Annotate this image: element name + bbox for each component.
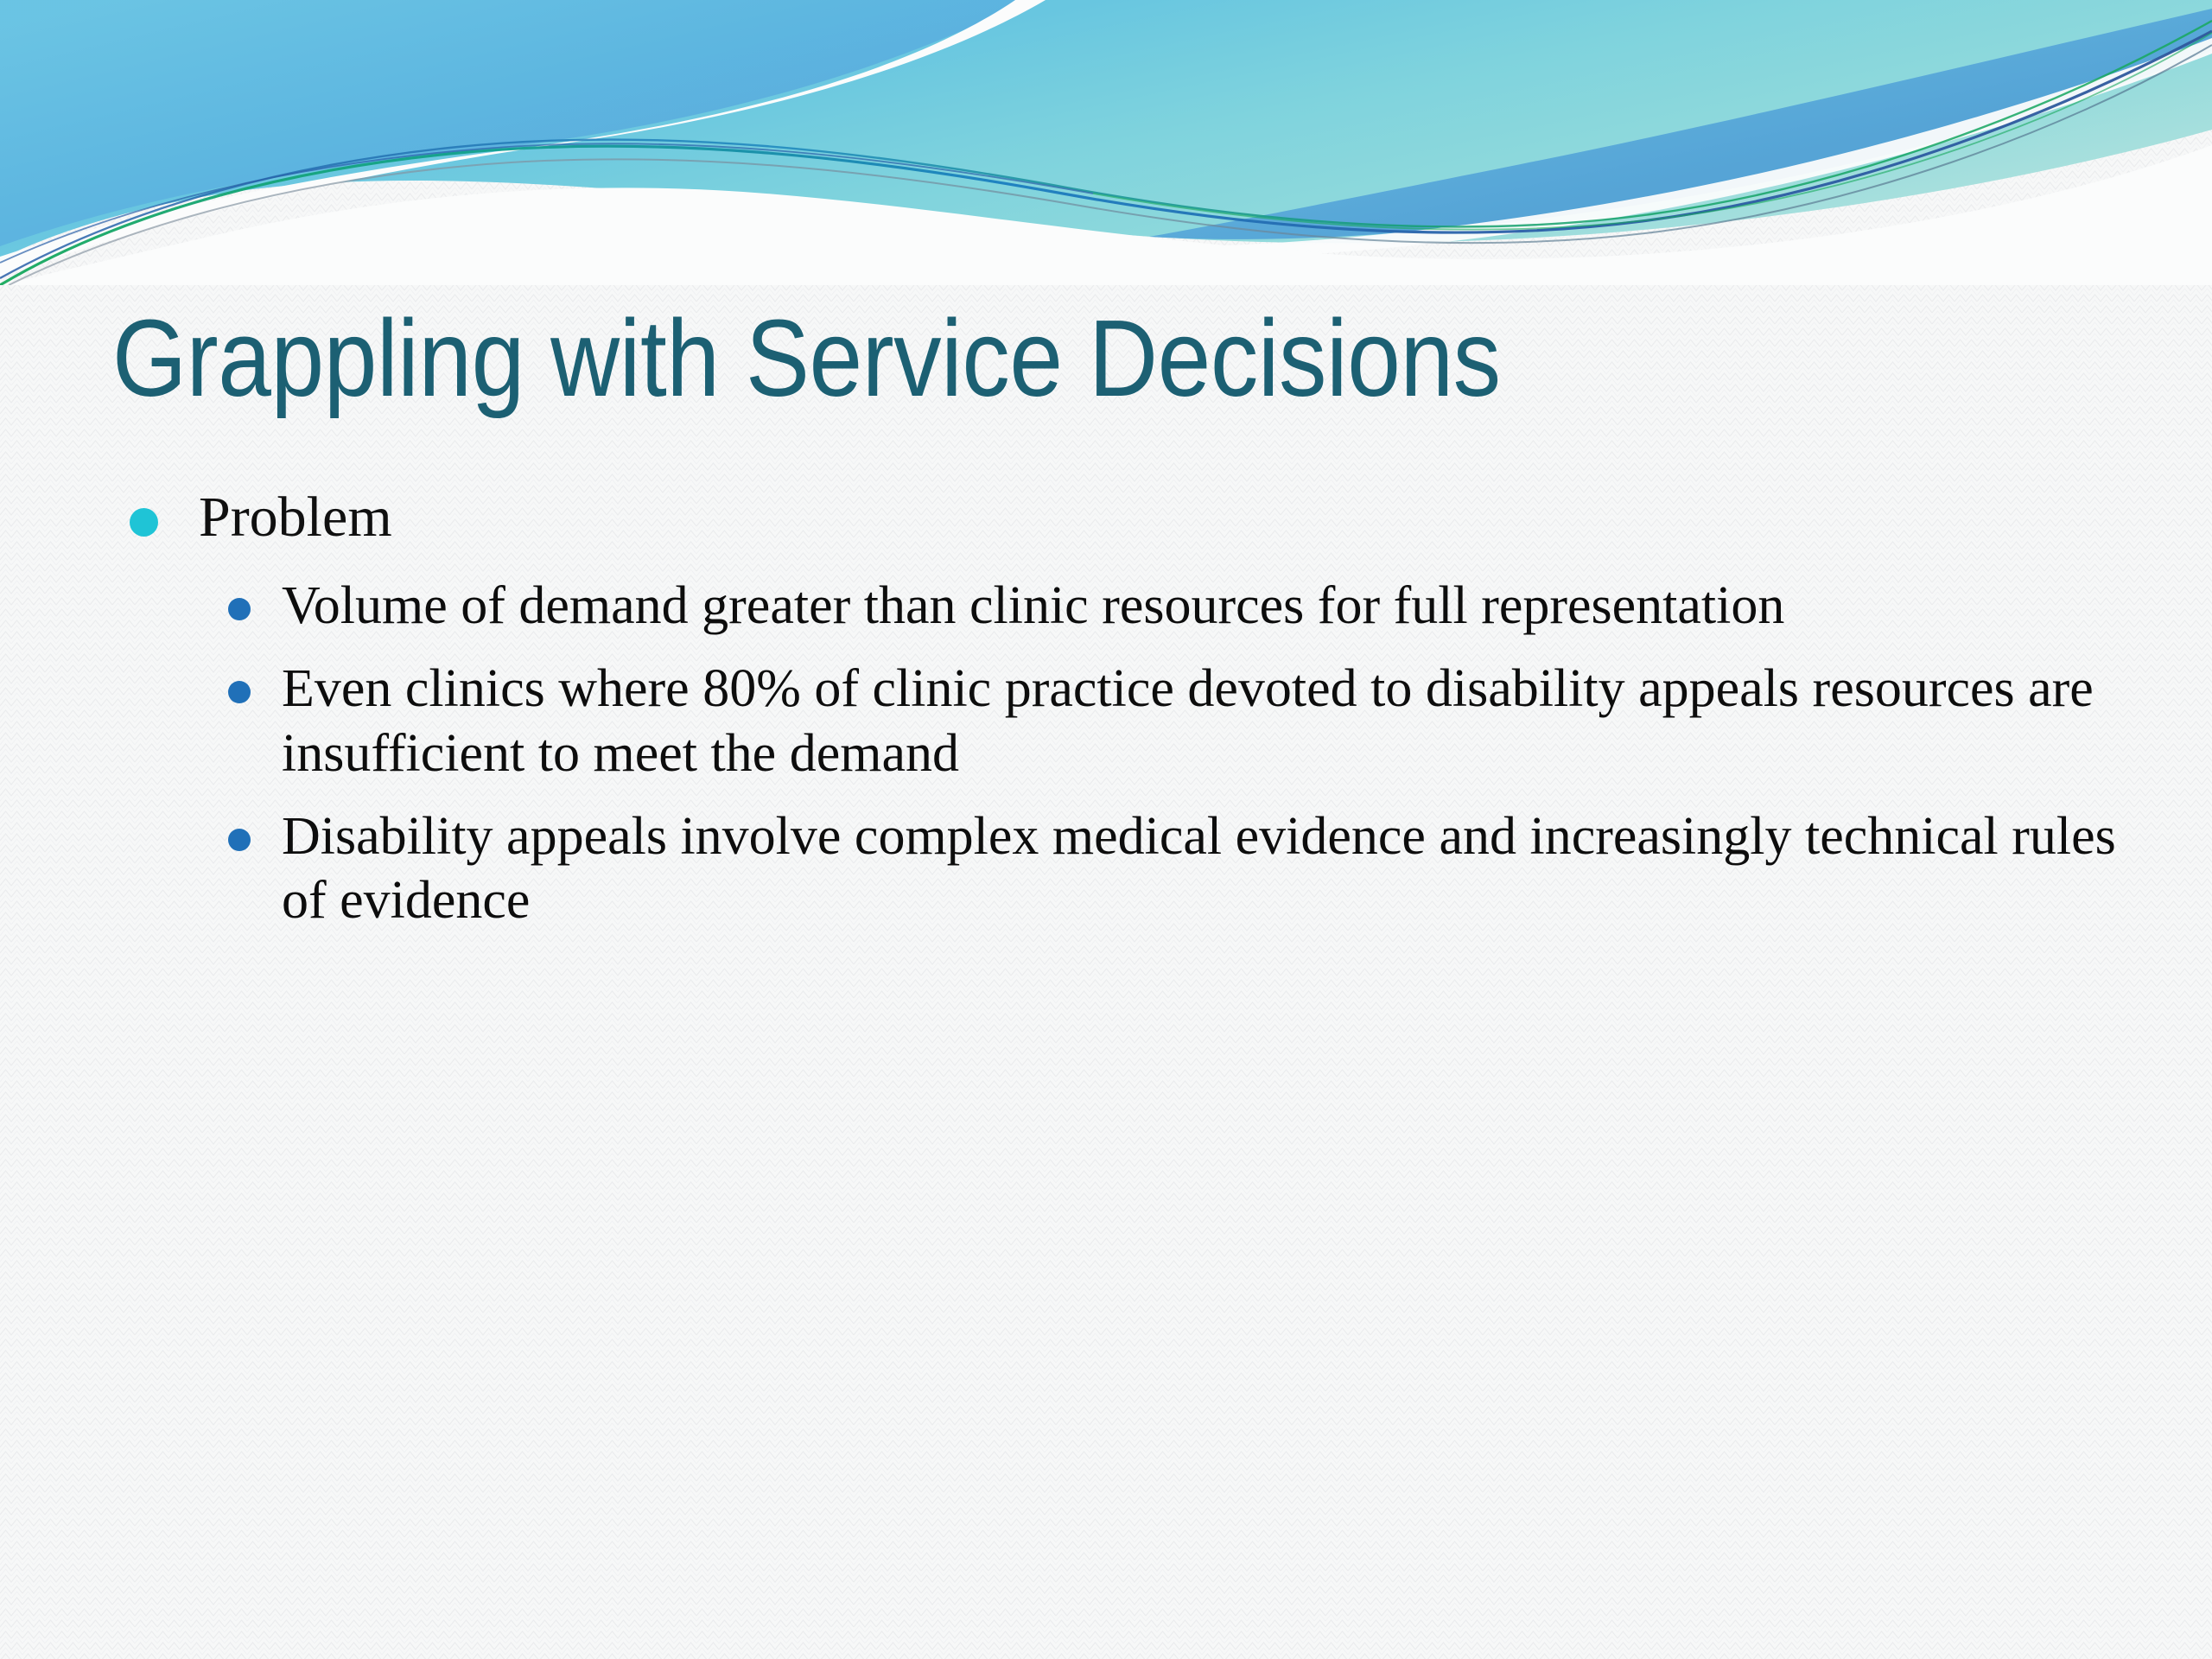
presentation-slide: Grappling with Service Decisions Problem… <box>0 0 2212 1659</box>
bullet-level2-label: Disability appeals involve complex medic… <box>282 804 2134 933</box>
slide-title: Grappling with Service Decisions <box>112 301 1861 416</box>
filled-circle-bullet-icon <box>130 508 158 537</box>
filled-circle-bullet-icon <box>228 681 251 703</box>
filled-circle-bullet-icon <box>228 598 251 620</box>
bullet-level1-label: Problem <box>199 484 2134 551</box>
bullet-level2-label: Even clinics where 80% of clinic practic… <box>282 657 2134 785</box>
filled-circle-bullet-icon <box>228 829 251 851</box>
bullet-level2-item: Even clinics where 80% of clinic practic… <box>223 657 2134 785</box>
bullet-level2-list: Volume of demand greater than clinic res… <box>121 574 2134 933</box>
bullet-level2-item: Volume of demand greater than clinic res… <box>223 574 2134 638</box>
bullet-level2-item: Disability appeals involve complex medic… <box>223 804 2134 933</box>
slide-body-content: Problem Volume of demand greater than cl… <box>121 484 2134 952</box>
header-decoration-swoosh <box>0 0 2212 285</box>
bullet-level1-problem: Problem <box>121 484 2134 551</box>
bullet-level2-label: Volume of demand greater than clinic res… <box>282 574 2134 638</box>
